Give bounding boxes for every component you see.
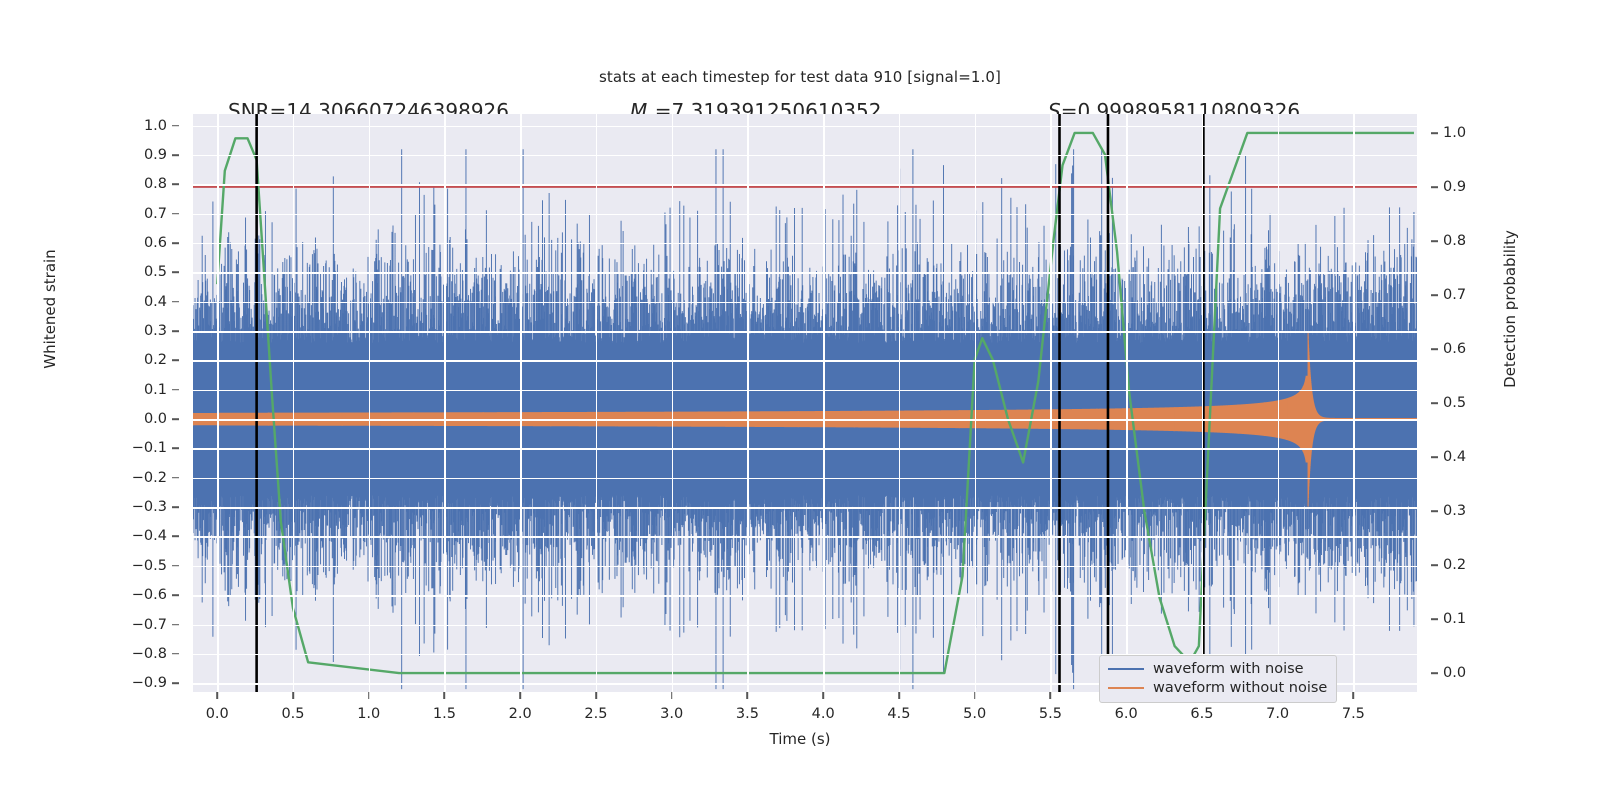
y-tick-mark [172, 330, 179, 332]
y2-tick-mark [1431, 564, 1438, 566]
y-tick-label: −0.3 [132, 499, 167, 515]
y-tick-mark [172, 184, 179, 186]
x-tick-mark [368, 692, 370, 699]
y2-tick-label: 0.7 [1443, 287, 1466, 303]
y-tick-label: −0.8 [132, 646, 167, 662]
y-tick-label: 0.0 [144, 411, 167, 427]
x-tick-label: 3.0 [660, 706, 683, 722]
grid-line-horizontal [193, 507, 1417, 508]
y-tick-label: 0.7 [144, 206, 167, 222]
y2-tick-mark [1431, 132, 1438, 134]
y-tick-mark [172, 125, 179, 127]
grid-line-vertical [975, 114, 976, 692]
y2-tick-mark [1431, 186, 1438, 188]
x-tick-label: 3.5 [736, 706, 759, 722]
grid-line-vertical [899, 114, 900, 692]
x-tick-label: 4.5 [887, 706, 910, 722]
legend-color-swatch [1108, 668, 1144, 671]
y-tick-label: −0.6 [132, 587, 167, 603]
y-tick-label: −0.2 [132, 470, 167, 486]
y-tick-mark [172, 389, 179, 391]
grid-line-horizontal [193, 566, 1417, 567]
y-tick-mark [172, 301, 179, 303]
y2-tick-mark [1431, 348, 1438, 350]
grid-line-vertical [1126, 114, 1127, 692]
grid-line-horizontal [193, 625, 1417, 626]
x-tick-label: 6.0 [1115, 706, 1138, 722]
y2-tick-mark [1431, 402, 1438, 404]
grid-line-horizontal [193, 360, 1417, 361]
y-tick-label: −0.5 [132, 558, 167, 574]
y-tick-mark [172, 242, 179, 244]
y-tick-mark [172, 154, 179, 156]
y-tick-mark [172, 448, 179, 450]
grid-line-horizontal [193, 243, 1417, 244]
x-tick-label: 6.5 [1190, 706, 1213, 722]
grid-line-horizontal [193, 419, 1417, 420]
y-tick-label: 0.4 [144, 294, 167, 310]
legend-item[interactable]: waveform without noise [1108, 680, 1327, 696]
grid-line-horizontal [193, 448, 1417, 449]
y-tick-label: 0.6 [144, 235, 167, 251]
y-tick-label: 0.2 [144, 352, 167, 368]
x-tick-label: 5.0 [963, 706, 986, 722]
x-tick-label: 2.0 [509, 706, 532, 722]
x-axis-label: Time (s) [0, 730, 1600, 748]
x-tick-label: 0.5 [281, 706, 304, 722]
grid-line-vertical [747, 114, 748, 692]
y-tick-label: 0.8 [144, 176, 167, 192]
legend-label: waveform without noise [1153, 680, 1327, 696]
y-tick-mark [172, 682, 179, 684]
x-tick-label: 4.0 [812, 706, 835, 722]
y2-tick-mark [1431, 618, 1438, 620]
x-tick-mark [898, 692, 900, 699]
x-tick-mark [595, 692, 597, 699]
y2-tick-mark [1431, 294, 1438, 296]
x-tick-label: 7.0 [1266, 706, 1289, 722]
grid-line-horizontal [193, 126, 1417, 127]
grid-line-vertical [1202, 114, 1203, 692]
y-tick-label: −0.9 [132, 675, 167, 691]
y-tick-mark [172, 624, 179, 626]
y2-tick-label: 0.4 [1443, 449, 1466, 465]
figure-root: stats at each timestep for test data 910… [0, 0, 1600, 800]
grid-line-horizontal [193, 536, 1417, 537]
grid-line-horizontal [193, 595, 1417, 596]
legend: waveform with noisewaveform without nois… [1099, 655, 1337, 703]
x-tick-mark [1353, 692, 1355, 699]
grid-line-vertical [444, 114, 445, 692]
y-tick-mark [172, 477, 179, 479]
x-tick-label: 7.5 [1342, 706, 1365, 722]
y2-tick-label: 0.9 [1443, 179, 1466, 195]
y2-tick-label: 0.0 [1443, 665, 1466, 681]
legend-color-swatch [1108, 687, 1144, 690]
y-tick-mark [172, 653, 179, 655]
y2-tick-label: 0.5 [1443, 395, 1466, 411]
y-tick-mark [172, 213, 179, 215]
grid-line-vertical [1050, 114, 1051, 692]
x-tick-mark [822, 692, 824, 699]
grid-line-vertical [1278, 114, 1279, 692]
x-tick-mark [292, 692, 294, 699]
y2-tick-label: 0.2 [1443, 557, 1466, 573]
y-tick-mark [172, 272, 179, 274]
x-tick-label: 1.0 [357, 706, 380, 722]
figure-title: stats at each timestep for test data 910… [0, 68, 1600, 86]
grid-line-horizontal [193, 184, 1417, 185]
y2-tick-mark [1431, 456, 1438, 458]
y-tick-label: −0.7 [132, 617, 167, 633]
grid-line-vertical [1353, 114, 1354, 692]
y-tick-label: 0.5 [144, 264, 167, 280]
grid-line-horizontal [193, 272, 1417, 273]
y-tick-mark [172, 565, 179, 567]
grid-line-vertical [520, 114, 521, 692]
x-tick-mark [747, 692, 749, 699]
x-tick-label: 0.0 [206, 706, 229, 722]
x-tick-mark [444, 692, 446, 699]
grid-line-vertical [672, 114, 673, 692]
y-tick-label: −0.1 [132, 440, 167, 456]
y-tick-label: 1.0 [144, 118, 167, 134]
y2-tick-label: 0.8 [1443, 233, 1466, 249]
y-tick-mark [172, 506, 179, 508]
y2-tick-label: 0.1 [1443, 611, 1466, 627]
x-tick-label: 1.5 [433, 706, 456, 722]
plot-area [193, 114, 1417, 692]
y-tick-mark [172, 360, 179, 362]
y2-tick-mark [1431, 510, 1438, 512]
x-tick-mark [671, 692, 673, 699]
x-tick-label: 5.5 [1039, 706, 1062, 722]
grid-line-vertical [217, 114, 218, 692]
y2-tick-label: 0.6 [1443, 341, 1466, 357]
y2-tick-label: 1.0 [1443, 125, 1466, 141]
y2-tick-mark [1431, 240, 1438, 242]
grid-line-vertical [293, 114, 294, 692]
grid-line-vertical [369, 114, 370, 692]
grid-line-horizontal [193, 390, 1417, 391]
grid-line-horizontal [193, 155, 1417, 156]
grid-line-horizontal [193, 214, 1417, 215]
y-tick-mark [172, 594, 179, 596]
legend-item[interactable]: waveform with noise [1108, 661, 1327, 677]
x-tick-mark [216, 692, 218, 699]
grid-line-vertical [823, 114, 824, 692]
y-tick-label: −0.4 [132, 528, 167, 544]
plot-canvas [193, 114, 1417, 692]
y2-axis-ticks: 1.00.90.80.70.60.50.40.30.20.10.0 [1417, 114, 1537, 692]
grid-line-horizontal [193, 331, 1417, 332]
y-tick-label: 0.9 [144, 147, 167, 163]
x-tick-mark [1050, 692, 1052, 699]
y-tick-label: 0.1 [144, 382, 167, 398]
y-tick-label: 0.3 [144, 323, 167, 339]
y2-tick-mark [1431, 672, 1438, 674]
grid-line-vertical [596, 114, 597, 692]
x-tick-mark [519, 692, 521, 699]
y-axis-ticks: 1.00.90.80.70.60.50.40.30.20.10.0−0.1−0.… [0, 114, 193, 692]
x-tick-label: 2.5 [584, 706, 607, 722]
y-tick-mark [172, 536, 179, 538]
legend-label: waveform with noise [1153, 661, 1304, 677]
y2-tick-label: 0.3 [1443, 503, 1466, 519]
x-tick-mark [974, 692, 976, 699]
y-tick-mark [172, 418, 179, 420]
grid-line-horizontal [193, 302, 1417, 303]
grid-line-horizontal [193, 478, 1417, 479]
